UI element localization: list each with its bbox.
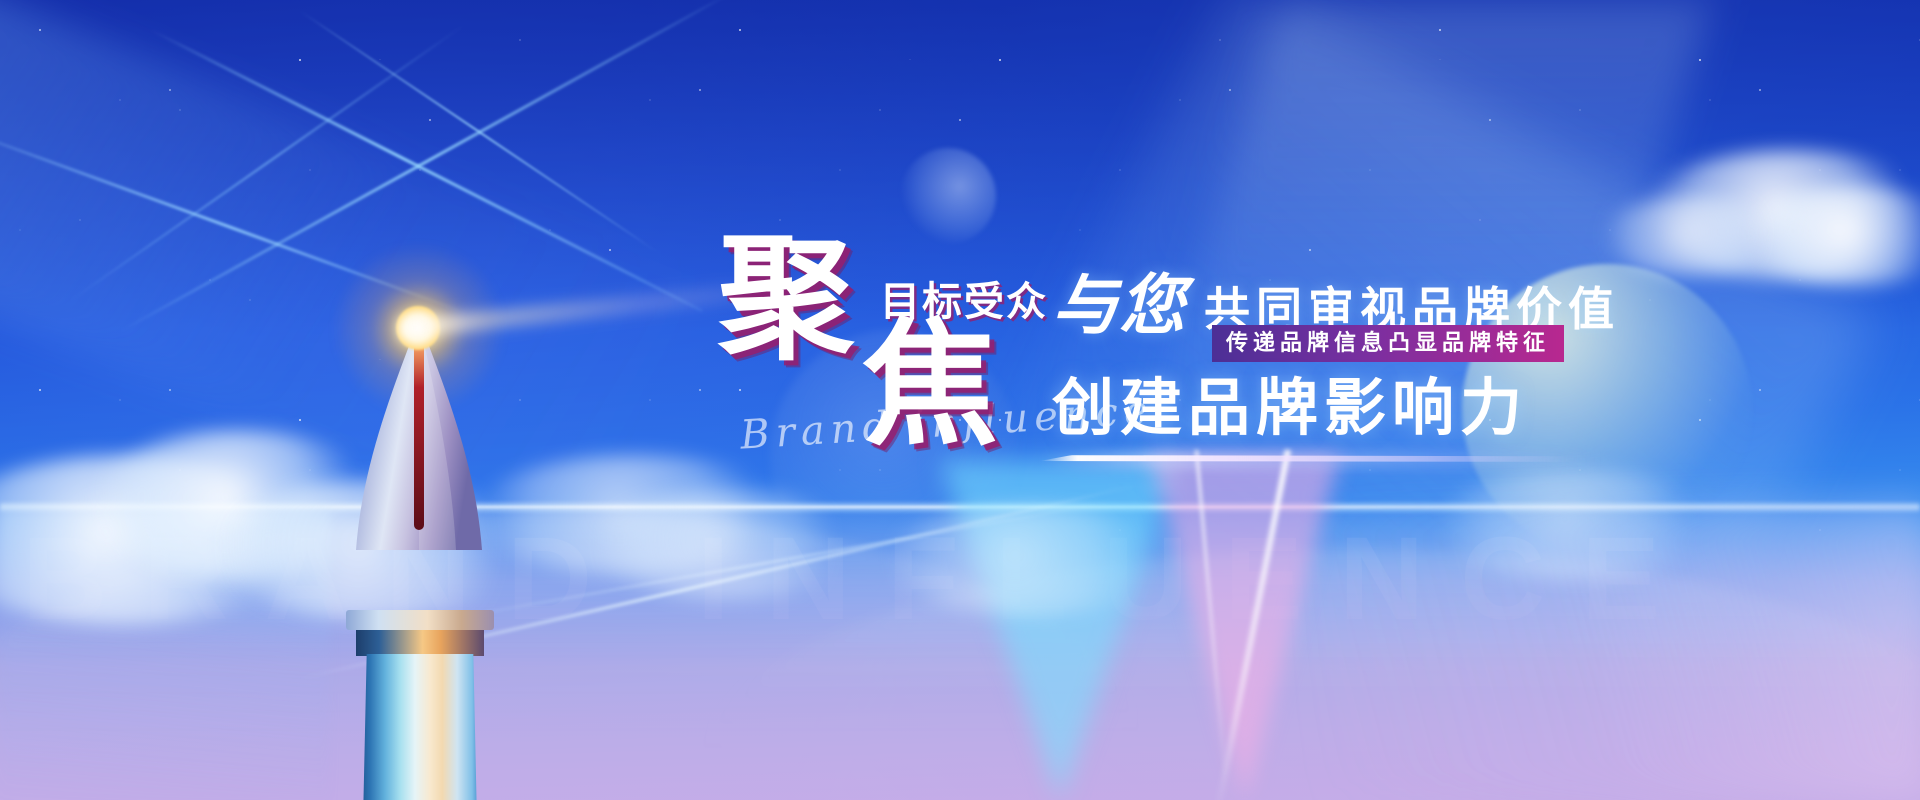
headline-line-2: 创建品牌影响力 [1052,378,1528,440]
headline-line-1-lead: 与您 [1052,272,1186,338]
brand-banner: BRAND INFLUENCE [0,0,1920,800]
headline-group: Brand influence 聚 目标受众 焦 与您 共同审视品牌价值 传递品… [0,0,1920,800]
headline-kanji-ju: 聚 [718,232,854,368]
subtitle-badge: 传递品牌信息凸显品牌特征 [1212,325,1564,362]
headline-kanji-jiao: 焦 [862,318,998,454]
